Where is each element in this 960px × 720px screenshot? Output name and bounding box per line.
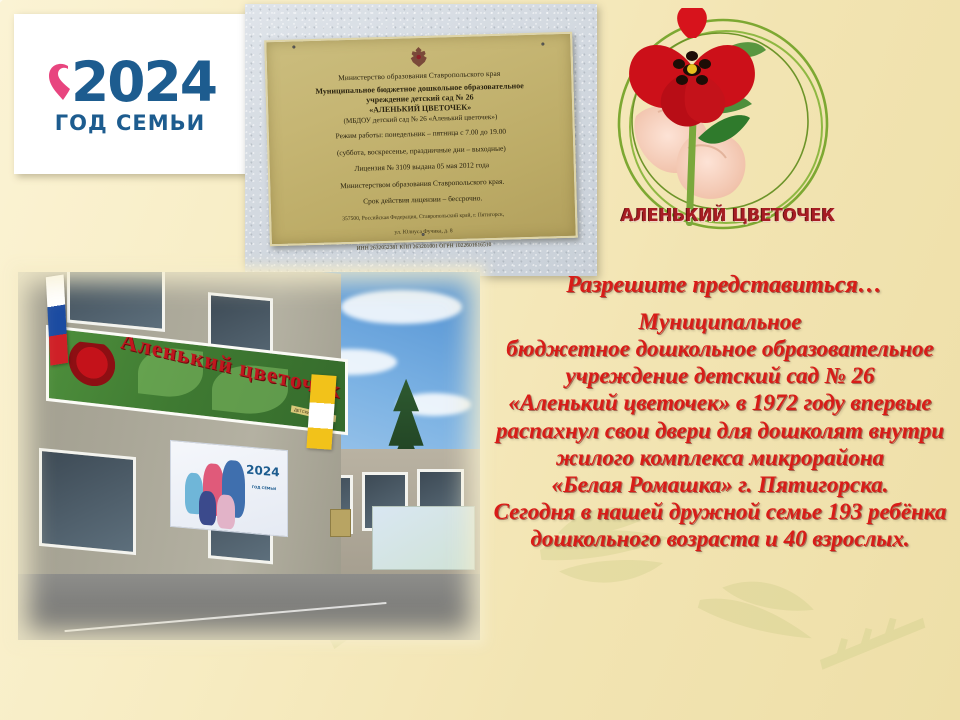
year-of-family-logo-card: 2024 ГОД СЕМЬИ (14, 14, 246, 174)
window (39, 448, 136, 555)
russian-coat-of-arms-icon (408, 46, 429, 69)
intro-heading: Разрешите представиться… (490, 272, 958, 299)
intro-line: Муниципальное (483, 308, 957, 335)
intro-line: Сегодня в нашей дружной семье 193 ребёнк… (483, 498, 957, 525)
intro-body-text: Муниципальное бюджетное дошкольное образ… (483, 308, 957, 552)
family-figure (218, 494, 235, 529)
plaque-hours-line-2: (суббота, воскресенье, праздничные дни –… (279, 142, 563, 160)
rose-decoration (66, 340, 116, 393)
plaque-screw (292, 45, 295, 48)
brand-title: АЛЕНЬКИЙ ЦВЕТОЧЕК (610, 205, 846, 226)
banner-year: 2024 (247, 463, 280, 480)
year-of-family-logo: 2024 ГОД СЕМЬИ (44, 55, 216, 134)
banner-subtitle: ГОД СЕМЬИ (252, 485, 276, 491)
kindergarten-building-photo: Аленький цветочек ДЕТСКИЙ САД № 26 2024 … (18, 272, 480, 640)
intro-line: учреждение детский сад № 26 (483, 362, 957, 389)
year-number: 2024 (71, 55, 216, 110)
cloud (341, 290, 461, 323)
official-plaque: Министерство образования Ставропольского… (264, 32, 578, 247)
intro-line: жилого комплекса микрорайона (483, 444, 957, 471)
intro-line: дошкольного возраста и 40 взрослых. (483, 525, 957, 552)
year-of-family-banner: 2024 ГОД СЕМЬИ (170, 440, 288, 537)
plaque-screw (422, 233, 425, 236)
intro-line: «Белая Ромашка» г. Пятигорска. (483, 471, 957, 498)
small-wall-plaque (330, 509, 350, 537)
plaque-license-line-3: Срок действия лицензии – бессрочно. (281, 191, 565, 209)
wall-mural (372, 506, 476, 571)
intro-line: «Аленький цветочек» в 1972 году впервые (483, 389, 957, 416)
plaque-license-line-1: Лицензия № 3109 выдана 05 мая 2012 года (280, 158, 564, 176)
window (68, 272, 165, 332)
plaque-license-line-2: Министерством образования Ставропольског… (280, 175, 564, 193)
institution-plaque-photo: Министерство образования Ставропольского… (245, 4, 597, 276)
presentation-slide: 2024 ГОД СЕМЬИ Министерство образования … (0, 0, 960, 720)
intro-line: распахнул свои двери для дошколят внутри (483, 417, 957, 444)
stavropol-flag-icon (307, 374, 337, 449)
intro-line: бюджетное дошкольное образовательное (483, 335, 957, 362)
plaque-address-line-2: ул. Юлиуса Фучика, д. 8 (282, 224, 566, 240)
family-figure (199, 491, 216, 526)
plaque-screw (541, 43, 544, 46)
plaque-hours-line-1: Режим работы: понедельник – пятница с 7.… (279, 125, 563, 143)
plaque-address-line-1: 357500, Российская Федерация, Ставрополь… (281, 209, 565, 225)
year-logo-row: 2024 (44, 55, 216, 110)
year-subtitle: ГОД СЕМЬИ (55, 113, 205, 134)
